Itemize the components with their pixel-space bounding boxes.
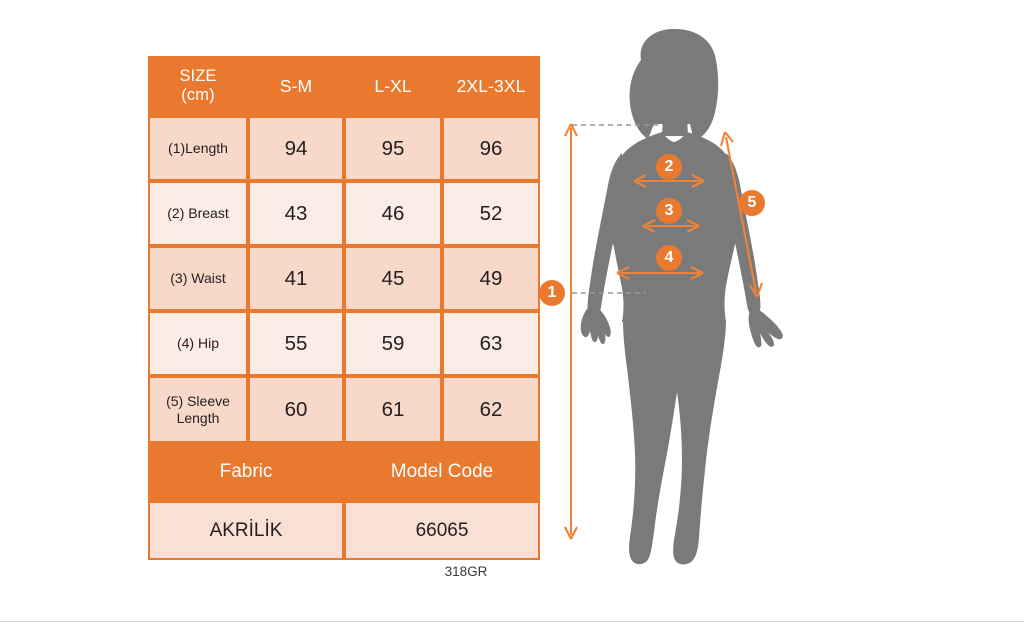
header-cell-2xl3xl: 2XL-3XL <box>442 56 540 116</box>
table-row: (1)Length 94 95 96 <box>148 116 540 181</box>
cell-length-lxl: 95 <box>344 116 442 181</box>
table-row: (3) Waist 41 45 49 <box>148 246 540 311</box>
measure-badge-5: 5 <box>739 190 765 216</box>
cell-hip-2xl3xl: 63 <box>442 311 540 376</box>
table-footer-header-row: Fabric Model Code <box>148 443 540 501</box>
table-row: (4) Hip 55 59 63 <box>148 311 540 376</box>
table-footer-value-row: AKRİLİK 66065 <box>148 501 540 560</box>
cell-breast-sm: 43 <box>248 181 344 246</box>
footer-value-fabric: AKRİLİK <box>148 501 344 560</box>
cell-sleeve-lxl: 61 <box>344 376 442 443</box>
row-label-breast: (2) Breast <box>148 181 248 246</box>
table-row: (5) Sleeve Length 60 61 62 <box>148 376 540 443</box>
row-label-hip: (4) Hip <box>148 311 248 376</box>
cell-length-sm: 94 <box>248 116 344 181</box>
header-cell-sm: S-M <box>248 56 344 116</box>
cell-breast-lxl: 46 <box>344 181 442 246</box>
size-chart-canvas: SIZE (cm) S-M L-XL 2XL-3XL (1)Length 94 … <box>0 0 1024 629</box>
footer-value-model-code: 66065 <box>344 501 540 560</box>
weight-note: 318GR <box>408 564 524 579</box>
row-label-waist: (3) Waist <box>148 246 248 311</box>
cell-waist-lxl: 45 <box>344 246 442 311</box>
cell-sleeve-sm: 60 <box>248 376 344 443</box>
header-size-line1: SIZE <box>179 67 216 85</box>
cell-length-2xl3xl: 96 <box>442 116 540 181</box>
cell-sleeve-2xl3xl: 62 <box>442 376 540 443</box>
header-size-line2: (cm) <box>181 86 214 104</box>
header-cell-lxl: L-XL <box>344 56 442 116</box>
cell-waist-2xl3xl: 49 <box>442 246 540 311</box>
cell-hip-sm: 55 <box>248 311 344 376</box>
row-label-length: (1)Length <box>148 116 248 181</box>
table-header-row: SIZE (cm) S-M L-XL 2XL-3XL <box>148 56 540 116</box>
header-cell-size: SIZE (cm) <box>148 56 248 116</box>
measurement-figure-panel: 1 2 3 4 5 <box>530 20 830 595</box>
row-label-sleeve-line1: (5) Sleeve <box>166 393 230 409</box>
cell-hip-lxl: 59 <box>344 311 442 376</box>
measure-badge-3: 3 <box>656 198 682 224</box>
footer-header-fabric: Fabric <box>148 443 344 501</box>
measure-badge-4: 4 <box>656 245 682 271</box>
measure-badge-2: 2 <box>656 154 682 180</box>
table-row: (2) Breast 43 46 52 <box>148 181 540 246</box>
silhouette-body-icon <box>581 29 783 565</box>
cell-waist-sm: 41 <box>248 246 344 311</box>
measure-badge-1: 1 <box>539 280 565 306</box>
footer-header-model-code: Model Code <box>344 443 540 501</box>
row-label-sleeve-length: (5) Sleeve Length <box>148 376 248 443</box>
size-table: SIZE (cm) S-M L-XL 2XL-3XL (1)Length 94 … <box>148 56 540 560</box>
bottom-divider <box>0 621 1024 622</box>
cell-breast-2xl3xl: 52 <box>442 181 540 246</box>
row-label-sleeve-line2: Length <box>177 410 220 426</box>
female-silhouette-diagram <box>530 20 830 595</box>
